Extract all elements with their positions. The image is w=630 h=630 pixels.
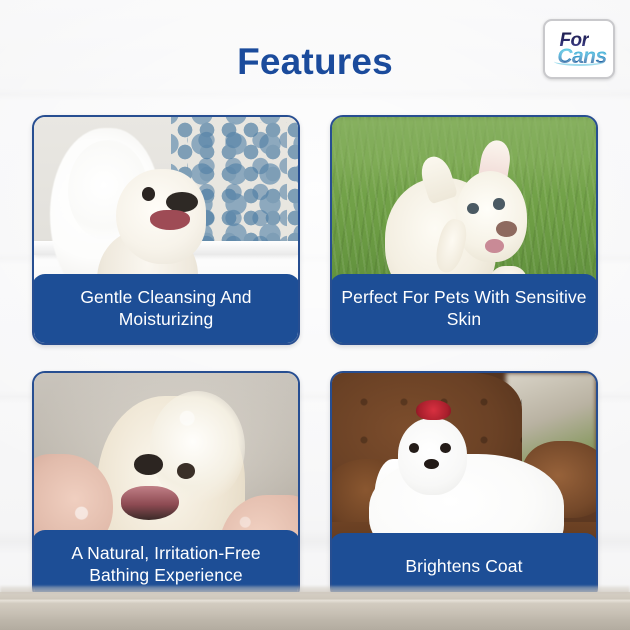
dog-tongue [150,210,190,230]
feature-card-irritation-free[interactable]: A Natural, Irritation-Free Bathing Exper… [32,371,300,601]
maltese-head [398,418,467,495]
logo-swoosh-icon [554,57,605,66]
features-grid: Gentle Cleansing And Moisturizing [32,115,598,601]
puppy-tongue [485,239,503,253]
logo-inner: For Cans [545,21,613,77]
dog-snout [166,192,198,212]
puppy-nose [496,221,517,237]
feature-caption: Perfect For Pets With Sensitive Skin [330,274,598,346]
feature-caption-text: Perfect For Pets With Sensitive Skin [340,286,588,332]
poster-header: Features For Cans [0,0,630,108]
feature-card-gentle-cleansing[interactable]: Gentle Cleansing And Moisturizing [32,115,300,345]
counter-shelf [0,592,630,630]
forcans-logo[interactable]: For Cans [543,19,615,79]
puppy-eye-left [467,203,479,214]
dog-eye [142,187,155,201]
feature-caption-text: Brightens Coat [405,555,522,578]
feature-caption: Gentle Cleansing And Moisturizing [32,274,300,346]
puppy-eye-right [493,198,505,209]
feature-caption-text: A Natural, Irritation-Free Bathing Exper… [42,542,290,588]
maltese-nose [424,459,439,469]
feature-card-sensitive-skin[interactable]: Perfect For Pets With Sensitive Skin [330,115,598,345]
maltese-eye-right [440,443,451,453]
feature-card-brightens-coat[interactable]: Brightens Coat [330,371,598,601]
features-poster: Features For Cans [0,0,630,630]
feature-caption-text: Gentle Cleansing And Moisturizing [42,286,290,332]
red-hair-bow [416,400,450,420]
page-title: Features [0,41,630,83]
